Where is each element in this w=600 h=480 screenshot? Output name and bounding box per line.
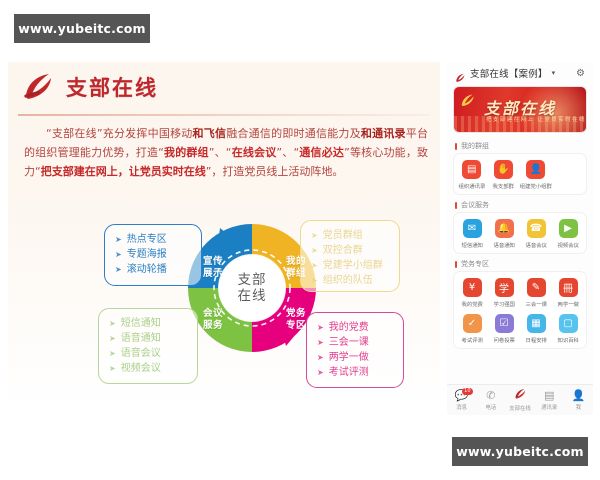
- para-bold-slogan: 把支部建在网上，让党员实时在线: [41, 165, 206, 178]
- phone-mockup: 支部在线【案例】 ▾ ⚙ 支部在线 把支部建在网上 让党员实时在线 我的群组: [447, 62, 593, 415]
- list-item: ➤三会一课: [317, 335, 395, 350]
- arrow-icon: ➤: [109, 331, 116, 346]
- phone-title[interactable]: 支部在线【案例】: [470, 66, 548, 80]
- wheel-diagram: 支部 在线 宣传 展示 我的 群组 会议 服务 党务 专区 ➤热点专区: [8, 212, 440, 407]
- callout-meeting-item-2: 语音会议: [121, 346, 161, 361]
- slide-header: 支部在线: [22, 72, 158, 102]
- para-seg-2: 融合通信的即时通信能力及: [226, 127, 361, 140]
- app-tile[interactable]: ▶ 视频会议: [552, 219, 584, 249]
- callout-publicity: ➤热点专区 ➤专题海报 ➤滚动轮播: [104, 224, 202, 286]
- hand-icon: ✋: [494, 160, 513, 179]
- person-icon: 👤: [572, 390, 586, 402]
- section-bar: [455, 143, 457, 150]
- app-tile-empty: [553, 160, 584, 190]
- message-badge: 10: [462, 388, 472, 395]
- nav-label: 电话: [485, 403, 496, 411]
- party-emblem-icon: [455, 68, 466, 78]
- nav-item-contacts[interactable]: ▤ 通讯录: [535, 390, 564, 411]
- chevron-down-icon[interactable]: ▾: [552, 69, 556, 77]
- para-seg-7: ”，打造党员线上活动阵地。: [206, 165, 344, 178]
- gear-icon[interactable]: ⚙: [576, 68, 585, 79]
- nav-item-me[interactable]: 👤 我: [564, 390, 593, 411]
- two-study-icon: 冊: [559, 278, 578, 297]
- hub-line-2: 在线: [238, 288, 267, 304]
- app-label: 问卷投票: [493, 336, 514, 344]
- video-icon: ▶: [559, 219, 578, 238]
- section-heading-text: 会议服务: [461, 200, 489, 210]
- phone-icon: ☎: [527, 219, 546, 238]
- app-tile[interactable]: 冊 两学一做: [552, 278, 584, 308]
- watermark-top: www.yubeitc.com: [14, 14, 150, 43]
- app-grid-row-2: ✓ 考试评测 ☑ 问卷投票 ▦ 日程安排 ▢ 知识百科: [456, 314, 584, 344]
- callout-meeting: ➤短信通知 ➤语音通知 ➤语音会议 ➤视频会议: [98, 308, 198, 384]
- arrow-icon: ➤: [115, 247, 122, 262]
- app-grid: ▤ 组织通讯录 ✋ 我支部群 👤 组建党小组群: [456, 160, 584, 190]
- app-label: 我的党费: [461, 300, 482, 308]
- party-emblem-icon: [460, 93, 476, 108]
- app-label: 组织通讯录: [458, 182, 485, 190]
- list-item: ➤两学一做: [317, 350, 395, 365]
- para-bold-hefeixin: 和飞信: [193, 127, 227, 140]
- slide-page: www.yubeitc.com 支部在线 “支部在线”充分发挥中国移动和飞信融合…: [0, 0, 600, 480]
- app-label: 语音会议: [525, 241, 546, 249]
- app-label: 我支部群: [492, 182, 513, 190]
- nav-label: 我: [576, 403, 581, 411]
- slide-panel: 支部在线 “支部在线”充分发挥中国移动和飞信融合通信的即时通信能力及和通讯录平台…: [8, 62, 440, 407]
- dues-icon: ¥: [463, 278, 482, 297]
- list-item: ➤滚动轮播: [115, 262, 193, 277]
- app-label: 组建党小组群: [520, 182, 552, 190]
- arrow-icon: ➤: [115, 232, 122, 247]
- exam-icon: ✓: [463, 314, 482, 333]
- arrow-icon: ➤: [317, 365, 324, 380]
- banner-subtitle: 把支部建在网上 让党员实时在线: [486, 115, 586, 123]
- phone-bottom-nav: 💬 10 消息 ✆ 电话 支部在线 ▤ 通讯录: [447, 384, 593, 415]
- app-tile[interactable]: ✎ 三会一课: [520, 278, 552, 308]
- nav-label: 消息: [456, 403, 467, 411]
- sms-icon: ✉: [463, 219, 482, 238]
- contacts-icon: ▤: [544, 390, 554, 402]
- callout-publicity-item-2: 滚动轮播: [127, 262, 167, 277]
- callout-groups-item-2: 党建学小组群: [323, 258, 383, 273]
- arrow-icon: ➤: [109, 346, 116, 361]
- arrow-icon: ➤: [311, 258, 318, 273]
- section-bar: [455, 202, 457, 209]
- callout-party-item-2: 两学一做: [329, 350, 369, 365]
- callout-party-affairs-list: ➤我的党费 ➤三会一课 ➤两学一做 ➤考试评测: [317, 320, 395, 380]
- para-bold-wodequnzu: 我的群组: [164, 146, 209, 159]
- app-grid: ✉ 短信通知 🔔 语音通知 ☎ 语音会议 ▶ 视频会议: [456, 219, 584, 249]
- para-bold-tongxinbida: 通信必达: [299, 146, 344, 159]
- person-add-icon: 👤: [526, 160, 545, 179]
- callout-party-item-1: 三会一课: [329, 335, 369, 350]
- para-seg-5: ”、“: [276, 146, 299, 159]
- app-label: 考试评测: [461, 336, 482, 344]
- watermark-bottom: www.yubeitc.com: [452, 437, 588, 466]
- callout-party-item-0: 我的党费: [329, 320, 369, 335]
- phone-header: 支部在线【案例】 ▾ ⚙: [447, 62, 593, 84]
- list-item: ➤党建学小组群: [311, 258, 391, 273]
- section-heading-text: 我的群组: [461, 141, 489, 151]
- app-tile[interactable]: 🔔 语音通知: [488, 219, 520, 249]
- app-tile[interactable]: 👤 组建党小组群: [519, 160, 553, 190]
- callout-publicity-list: ➤热点专区 ➤专题海报 ➤滚动轮播: [115, 232, 193, 277]
- app-label: 日程安排: [525, 336, 546, 344]
- survey-icon: ☑: [495, 314, 514, 333]
- app-tile[interactable]: ✉ 短信通知: [456, 219, 488, 249]
- list-item: ➤我的党费: [317, 320, 395, 335]
- para-bold-hetongxunlu: 和通讯录: [361, 127, 406, 140]
- list-item: ➤语音会议: [109, 346, 189, 361]
- callout-groups-item-0: 党员群组: [323, 228, 363, 243]
- section-heading-text: 党务专区: [461, 259, 489, 269]
- list-item: ➤热点专区: [115, 232, 193, 247]
- callout-party-item-3: 考试评测: [329, 365, 369, 380]
- intro-paragraph: “支部在线”充分发挥中国移动和飞信融合通信的即时通信能力及和通讯录平台的组织管理…: [24, 124, 428, 181]
- title-divider: [18, 114, 430, 116]
- app-label: 两学一做: [557, 300, 578, 308]
- arrow-icon: ➤: [115, 262, 122, 277]
- list-item: ➤语音通知: [109, 331, 189, 346]
- arrow-icon: ➤: [109, 316, 116, 331]
- callout-publicity-item-1: 专题海报: [127, 247, 167, 262]
- app-tile[interactable]: ▦ 日程安排: [520, 314, 552, 344]
- callout-meeting-item-0: 短信通知: [121, 316, 161, 331]
- encyclopedia-icon: ▢: [559, 314, 578, 333]
- section-heading-party-affairs: 党务专区: [455, 259, 593, 269]
- quadrant-label-meeting: 会议 服务: [197, 308, 229, 331]
- app-tile[interactable]: ▢ 知识百科: [552, 314, 584, 344]
- app-label: 学习强国: [493, 300, 514, 308]
- app-label: 视频会议: [557, 241, 578, 249]
- hub-line-1: 支部: [238, 272, 267, 288]
- app-tile[interactable]: ▤ 组织通讯录: [456, 160, 487, 190]
- app-tile[interactable]: ☑ 问卷投票: [488, 314, 520, 344]
- callout-party-affairs: ➤我的党费 ➤三会一课 ➤两学一做 ➤考试评测: [306, 312, 404, 388]
- app-label: 三会一课: [525, 300, 546, 308]
- section-heading-meeting: 会议服务: [455, 200, 593, 210]
- callout-meeting-item-3: 视频会议: [121, 361, 161, 376]
- app-tile[interactable]: ☎ 语音会议: [520, 219, 552, 249]
- phone-banner[interactable]: 支部在线 把支部建在网上 让党员实时在线: [453, 86, 587, 133]
- app-tile[interactable]: ¥ 我的党费: [456, 278, 488, 308]
- app-card-my-groups: ▤ 组织通讯录 ✋ 我支部群 👤 组建党小组群: [453, 153, 587, 195]
- study-icon: 学: [495, 278, 514, 297]
- address-book-icon: ▤: [462, 160, 481, 179]
- callout-groups-item-3: 组织的队伍: [323, 273, 373, 288]
- party-emblem-icon: [22, 72, 56, 102]
- quad-meeting-l1: 会议: [197, 308, 229, 320]
- nav-label: 支部在线: [509, 404, 531, 412]
- app-tile[interactable]: 学 学习强国: [488, 278, 520, 308]
- app-label: 语音通知: [493, 241, 514, 249]
- arrow-icon: ➤: [311, 273, 318, 288]
- callout-publicity-item-0: 热点专区: [127, 232, 167, 247]
- arrow-icon: ➤: [311, 228, 318, 243]
- bell-icon: 🔔: [495, 219, 514, 238]
- meeting-class-icon: ✎: [527, 278, 546, 297]
- callout-my-groups-list: ➤党员群组 ➤双控合群 ➤党建学小组群 ➤组织的队伍: [311, 228, 391, 288]
- nav-label: 通讯录: [541, 403, 557, 411]
- callout-meeting-item-1: 语音通知: [121, 331, 161, 346]
- app-grid-row-1: ¥ 我的党费 学 学习强国 ✎ 三会一课 冊 两学一做: [456, 278, 584, 308]
- callout-meeting-list: ➤短信通知 ➤语音通知 ➤语音会议 ➤视频会议: [109, 316, 189, 376]
- page-title: 支部在线: [66, 72, 158, 102]
- list-item: ➤视频会议: [109, 361, 189, 376]
- list-item: ➤短信通知: [109, 316, 189, 331]
- list-item: ➤组织的队伍: [311, 273, 391, 288]
- para-bold-zaixianhuiyi: 在线会议: [232, 146, 277, 159]
- watermark-top-text: www.yubeitc.com: [18, 21, 146, 36]
- app-tile[interactable]: ✓ 考试评测: [456, 314, 488, 344]
- list-item: ➤双控合群: [311, 243, 391, 258]
- watermark-bottom-text: www.yubeitc.com: [456, 444, 584, 459]
- nav-item-phone[interactable]: ✆ 电话: [476, 390, 505, 411]
- arrow-icon: ➤: [317, 350, 324, 365]
- para-seg-1: “支部在线”充分发挥中国移动: [46, 127, 193, 140]
- phone-icon: ✆: [486, 390, 495, 402]
- app-label: 知识百科: [557, 336, 578, 344]
- section-heading-my-groups: 我的群组: [455, 141, 593, 151]
- quad-meeting-l2: 服务: [197, 320, 229, 332]
- arrow-icon: ➤: [317, 320, 324, 335]
- calendar-icon: ▦: [527, 314, 546, 333]
- callout-my-groups: ➤党员群组 ➤双控合群 ➤党建学小组群 ➤组织的队伍: [300, 220, 400, 292]
- para-seg-4: ”、“: [209, 146, 232, 159]
- callout-groups-item-1: 双控合群: [323, 243, 363, 258]
- list-item: ➤党员群组: [311, 228, 391, 243]
- app-tile[interactable]: ✋ 我支部群: [487, 160, 518, 190]
- app-label: 短信通知: [461, 241, 482, 249]
- list-item: ➤考试评测: [317, 365, 395, 380]
- app-card-party-affairs: ¥ 我的党费 学 学习强国 ✎ 三会一课 冊 两学一做: [453, 271, 587, 349]
- section-bar: [455, 261, 457, 268]
- party-emblem-icon: [514, 388, 527, 403]
- arrow-icon: ➤: [311, 243, 318, 258]
- arrow-icon: ➤: [317, 335, 324, 350]
- app-card-meeting: ✉ 短信通知 🔔 语音通知 ☎ 语音会议 ▶ 视频会议: [453, 212, 587, 254]
- nav-item-messages[interactable]: 💬 10 消息: [447, 390, 476, 411]
- nav-item-branch-online[interactable]: 支部在线: [505, 388, 534, 412]
- arrow-icon: ➤: [109, 361, 116, 376]
- list-item: ➤专题海报: [115, 247, 193, 262]
